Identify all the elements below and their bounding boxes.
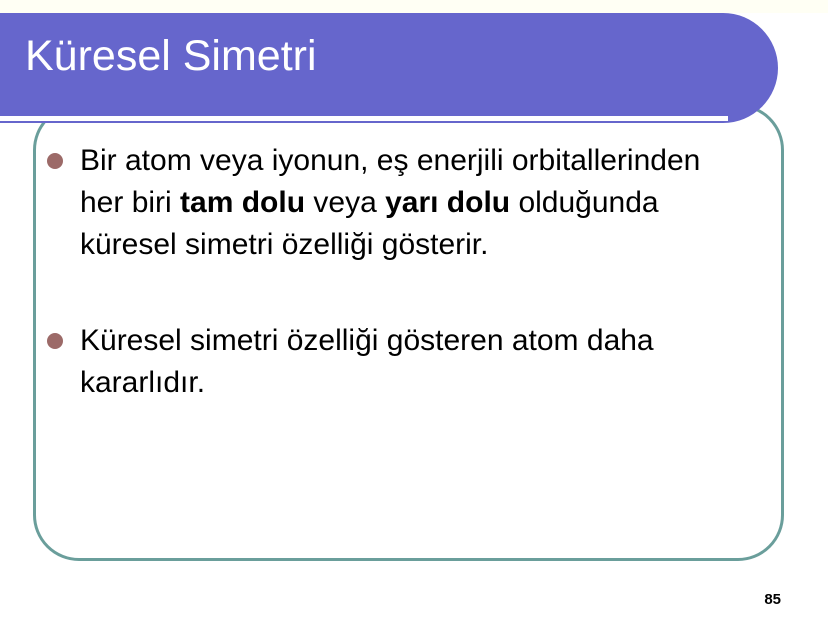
- top-edge-tint: [0, 0, 828, 13]
- page-number: 85: [764, 591, 781, 608]
- bullet-dot-icon: [47, 153, 63, 169]
- bullet-spacer: [45, 266, 745, 320]
- list-item: Küresel simetri özelliği gösteren atom d…: [45, 320, 745, 404]
- bullet-dot-icon: [47, 333, 63, 349]
- body-content: Bir atom veya iyonun, eş enerjili orbita…: [45, 140, 745, 404]
- bullet-text-1: Bir atom veya iyonun, eş enerjili orbita…: [80, 140, 745, 266]
- page-title: Küresel Simetri: [25, 30, 725, 82]
- list-item: Bir atom veya iyonun, eş enerjili orbita…: [45, 140, 745, 266]
- slide: Küresel Simetri Bir atom veya iyonun, eş…: [0, 0, 828, 621]
- title-underline-rule: [0, 116, 728, 121]
- bullet-text-2: Küresel simetri özelliği gösteren atom d…: [80, 320, 745, 404]
